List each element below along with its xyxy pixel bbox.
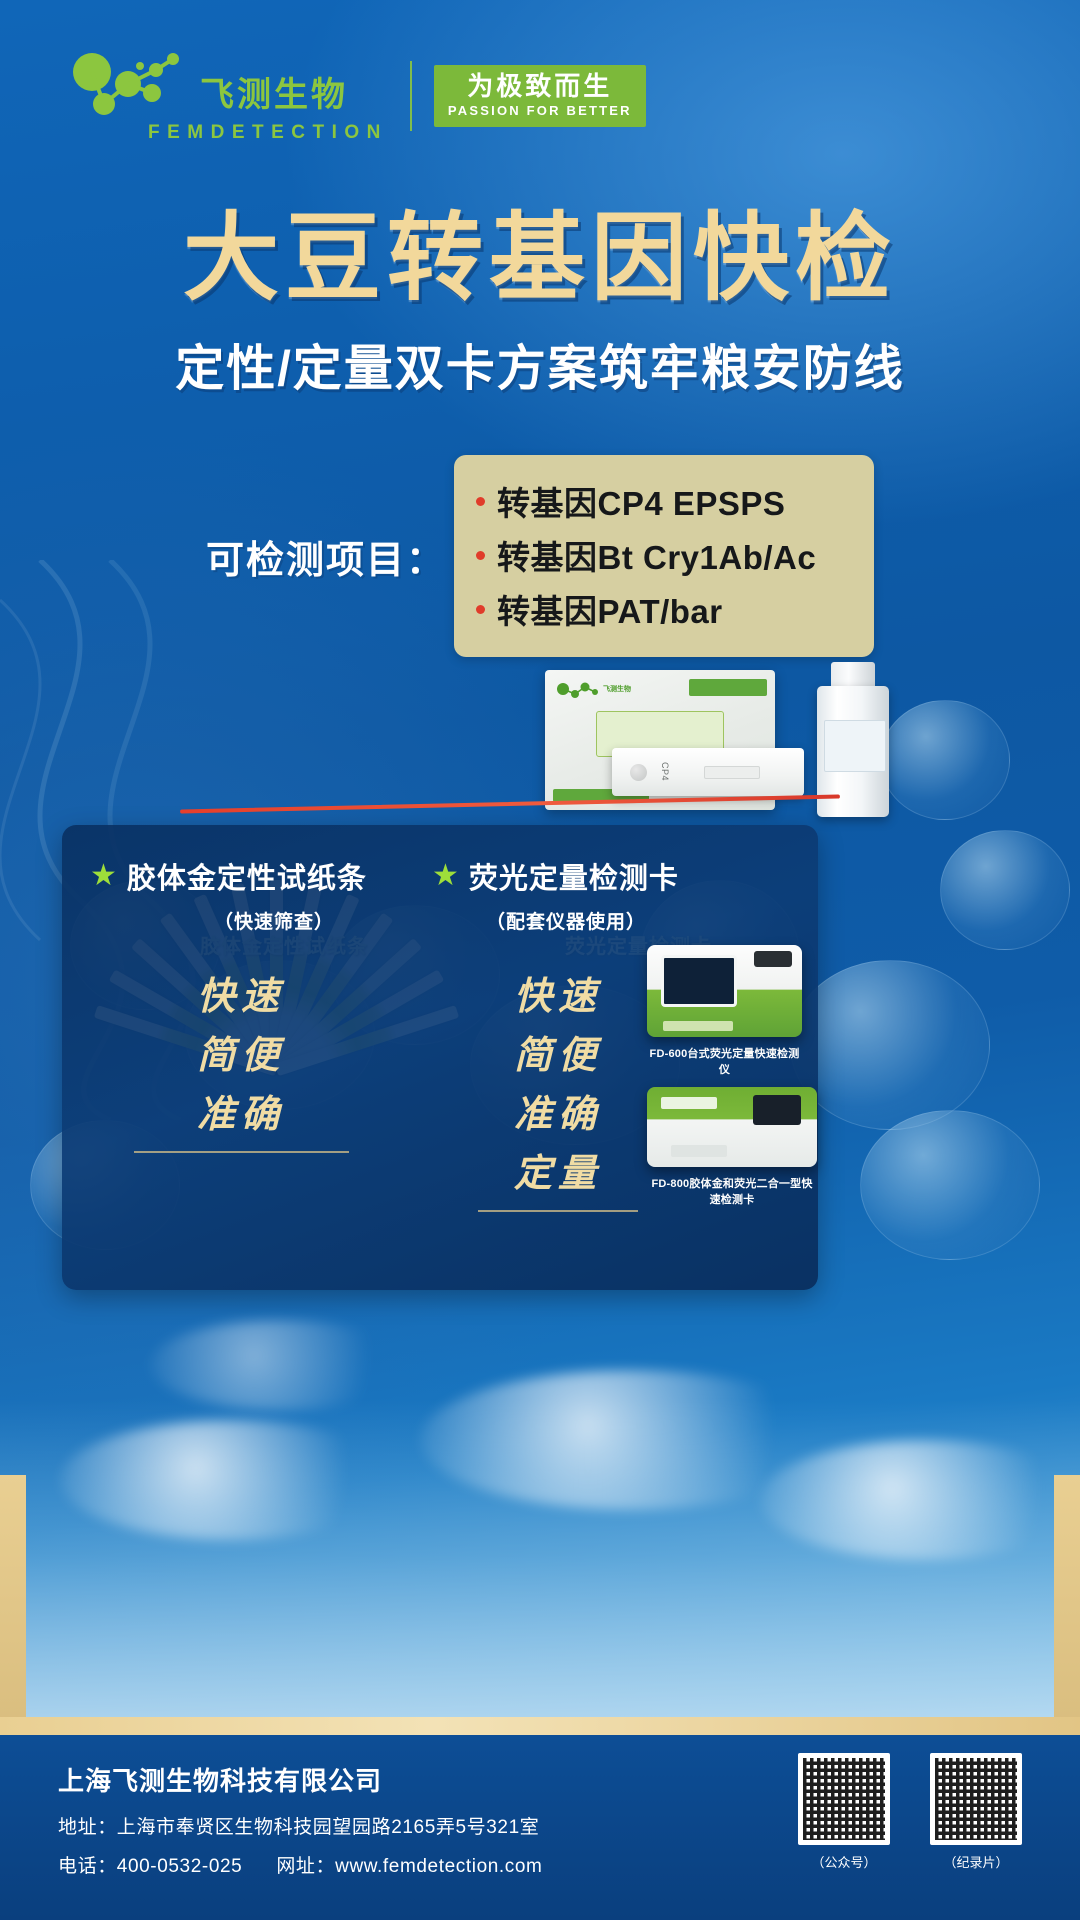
kit-slogan-badge (689, 679, 767, 696)
list-item: 转基因Bt Cry1Ab/Ac (476, 531, 840, 579)
column-title: 胶体金定性试纸条 (127, 855, 367, 897)
keyword-underline (478, 1210, 638, 1212)
logo-chinese-name: 飞测生物 (200, 78, 348, 112)
footer-company-name: 上海飞测生物科技有限公司 (58, 1761, 542, 1798)
bullet-dot-icon (476, 605, 485, 614)
bottle-cap (831, 662, 875, 688)
footer-qr-block: （公众号） （纪录片） (798, 1753, 1022, 1871)
detect-item-text: 转基因CP4 EPSPS (497, 477, 785, 525)
hero-title-block: 大豆转基因快检 定性/定量双卡方案筑牢粮安防线 (0, 205, 1080, 400)
detectable-items-box: 转基因CP4 EPSPS 转基因Bt Cry1Ab/Ac 转基因PAT/bar (454, 455, 874, 657)
device-logo (661, 1097, 717, 1109)
keyword: 定量 (468, 1145, 648, 1204)
bullet-dot-icon (476, 497, 485, 506)
slogan-english: PASSION FOR BETTER (448, 103, 632, 118)
panel-column-colloidal-gold: ★ 胶体金定性试纸条 （快速筛查） 快速 简便 准确 (90, 855, 430, 1153)
svg-text:飞测生物: 飞测生物 (603, 684, 631, 693)
keyword-list: 快速 简便 准确 (116, 968, 366, 1153)
slogan-badge: 为极致而生 PASSION FOR BETTER (434, 65, 646, 127)
qr-caption: （公众号） (798, 1852, 890, 1871)
device-slot (754, 951, 792, 967)
test-card-image: CP4 (612, 748, 804, 796)
list-item: 转基因PAT/bar (476, 585, 840, 633)
keyword: 简便 (116, 1027, 366, 1086)
page-title: 大豆转基因快检 (0, 205, 1080, 313)
footer-address: 地址：上海市奉贤区生物科技园望园路2165弄5号321室 (58, 1812, 542, 1839)
device-fd600: FD-600台式荧光定量快速检测仪 (647, 945, 802, 1077)
device-fd600-image (647, 945, 802, 1037)
comparison-panel: ★ 胶体金定性试纸条 （快速筛查） 快速 简便 准确 ★ 荧光定量检测卡 （配套… (62, 825, 818, 1290)
device-fd800-image (647, 1087, 817, 1167)
logo-block[interactable]: 飞测生物 FEMDETECTION (70, 48, 388, 144)
keyword: 简便 (468, 1027, 648, 1086)
detect-item-text: 转基因Bt Cry1Ab/Ac (497, 531, 816, 579)
molecule-logo-icon (70, 48, 190, 116)
footer: 上海飞测生物科技有限公司 地址：上海市奉贤区生物科技园望园路2165弄5号321… (0, 1735, 1080, 1920)
brand-header: 飞测生物 FEMDETECTION 为极致而生 PASSION FOR BETT… (70, 48, 646, 144)
column-subtitle: （配套仪器使用） (476, 907, 802, 934)
card-target-label: CP4 (660, 762, 670, 781)
qr-code-image (930, 1753, 1022, 1845)
device-screen (661, 955, 737, 1007)
card-sample-well (630, 764, 647, 781)
detectable-items-label: 可检测项目： (206, 529, 446, 584)
page-subtitle: 定性/定量双卡方案筑牢粮安防线 (0, 329, 1080, 400)
footer-website[interactable]: 网址：www.femdetection.com (276, 1851, 542, 1878)
device-buttons (663, 1021, 733, 1031)
column-subtitle: （快速筛查） (90, 907, 430, 934)
star-icon: ★ (90, 861, 117, 891)
bottle-label (824, 720, 886, 772)
qr-caption: （纪录片） (930, 1852, 1022, 1871)
qr-item-wechat[interactable]: （公众号） (798, 1753, 890, 1871)
device-caption: FD-600台式荧光定量快速检测仪 (647, 1045, 802, 1077)
logo-divider (410, 61, 412, 131)
gold-side-band-left (0, 1475, 26, 1735)
keyword: 快速 (468, 968, 648, 1027)
footer-contact-block: 上海飞测生物科技有限公司 地址：上海市奉贤区生物科技园望园路2165弄5号321… (58, 1761, 542, 1878)
gold-side-band-right (1054, 1475, 1080, 1735)
column-title: 荧光定量检测卡 (469, 855, 679, 897)
logo-english-name: FEMDETECTION (148, 122, 388, 144)
keyword: 准确 (468, 1086, 648, 1145)
device-fd800: FD-800胶体金和荧光二合一型快速检测卡 (647, 1087, 817, 1207)
qr-item-documentary[interactable]: （纪录片） (930, 1753, 1022, 1871)
device-screen (753, 1095, 801, 1125)
reagent-bottle-image (815, 662, 891, 817)
detect-item-text: 转基因PAT/bar (497, 585, 723, 633)
slogan-chinese: 为极致而生 (467, 73, 612, 100)
list-item: 转基因CP4 EPSPS (476, 477, 840, 525)
star-icon: ★ (432, 861, 459, 891)
gold-band (0, 1717, 1080, 1735)
footer-phone[interactable]: 电话：400-0532-025 (58, 1851, 242, 1878)
bullet-dot-icon (476, 551, 485, 560)
keyword: 准确 (116, 1086, 366, 1145)
detectable-items-section: 可检测项目： 转基因CP4 EPSPS 转基因Bt Cry1Ab/Ac 转基因P… (0, 455, 1080, 657)
card-result-window (704, 766, 760, 779)
keyword-underline (134, 1151, 349, 1153)
device-caption: FD-800胶体金和荧光二合一型快速检测卡 (647, 1175, 817, 1207)
qr-code-image (798, 1753, 890, 1845)
kit-molecule-logo-icon: 飞测生物 (555, 680, 639, 698)
keyword: 快速 (116, 968, 366, 1027)
keyword-list: 快速 简便 准确 定量 (468, 968, 648, 1212)
device-slot (671, 1145, 727, 1157)
